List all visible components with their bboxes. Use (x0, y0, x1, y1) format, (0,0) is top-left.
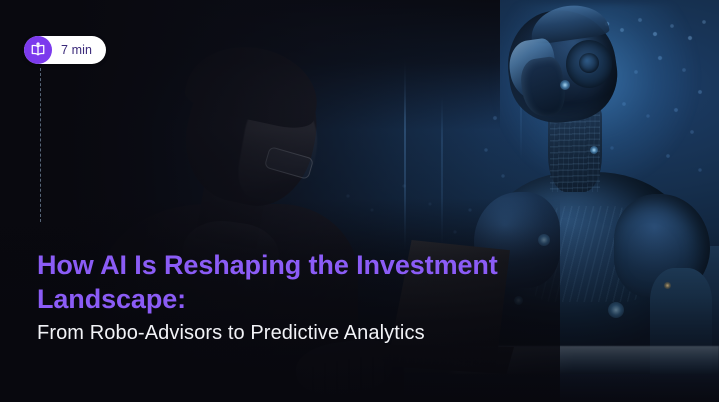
article-hero-card[interactable]: 7 min How AI Is Reshaping the Investment… (0, 0, 719, 402)
open-book-icon (24, 36, 52, 64)
read-time-label: 7 min (61, 43, 92, 57)
page-title: How AI Is Reshaping the Investment Lands… (37, 248, 537, 316)
page-subtitle: From Robo-Advisors to Predictive Analyti… (37, 320, 557, 347)
read-time-badge[interactable]: 7 min (24, 36, 106, 64)
timeline-dashed-line (40, 68, 41, 222)
